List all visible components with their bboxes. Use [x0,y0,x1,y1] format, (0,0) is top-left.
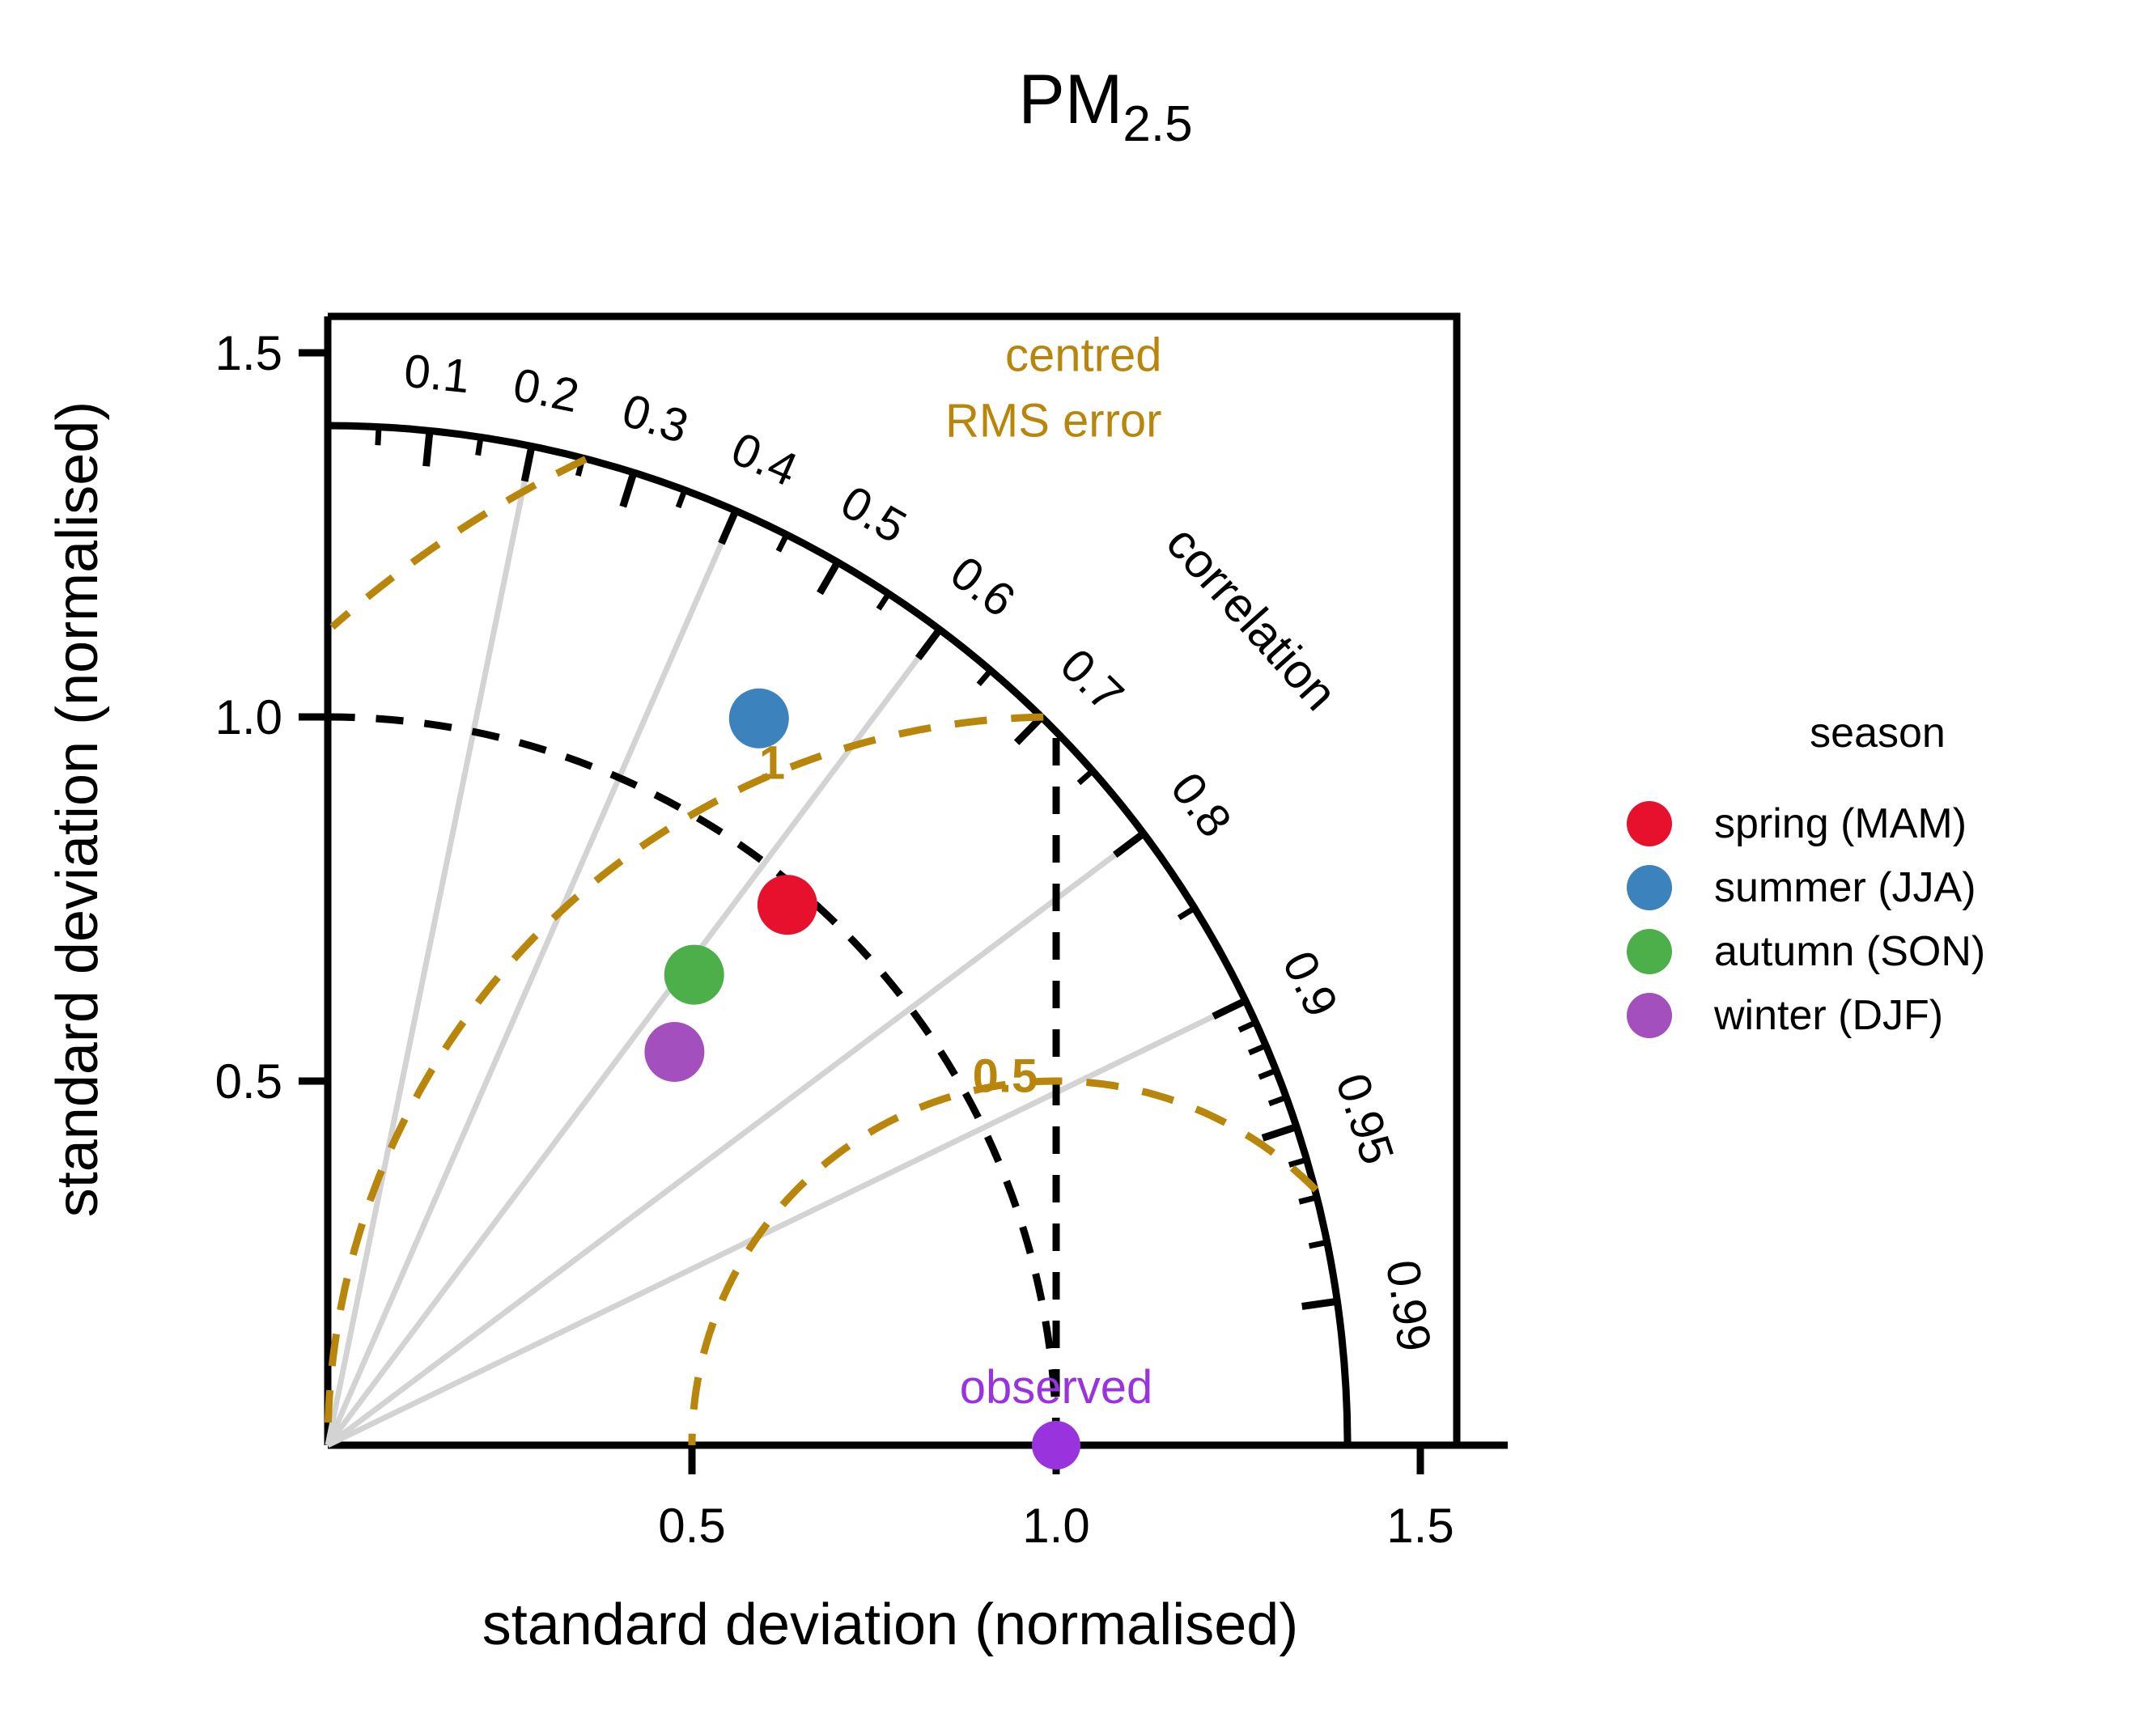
legend-item-spring[interactable]: spring (MAM) [1627,791,2128,855]
correlation-minor-tick-8 [1179,908,1195,918]
correlation-tick-label-6: 0.7 [1050,638,1134,722]
rms-contour-1 [328,717,1043,1445]
data-point-1[interactable] [729,689,789,748]
correlation-tick-label-10: 0.99 [1376,1257,1441,1355]
correlation-tick-label-4: 0.5 [832,476,915,554]
rms-contour-1.5 [333,460,586,627]
legend-item-winter[interactable]: winter (DJF) [1627,983,2128,1047]
legend-label-autumn: autumn (SON) [1714,931,1985,973]
correlation-tick-label-3: 0.4 [724,422,805,497]
correlation-tick-3 [721,511,736,543]
correlation-minor-tick-1 [478,437,481,455]
correlation-minor-tick-11 [1259,1071,1276,1077]
legend-swatch-summer [1627,865,1672,910]
y-tick-label-2: 1.5 [215,326,282,380]
legend-item-summer[interactable]: summer (JJA) [1627,855,2128,919]
x-tick-label-2: 1.5 [1386,1499,1454,1553]
x-axis-title: standard deviation (normalised) [482,1592,1299,1657]
chart-title: PM2.5 [1018,61,1192,152]
legend-title: season [1627,712,2128,754]
correlation-minor-tick-13 [1289,1160,1307,1164]
correlation-tick-2 [623,473,634,507]
correlation-gridline-0 [328,446,532,1445]
correlation-tick-7 [1115,833,1144,854]
correlation-tick-label-2: 0.3 [616,384,694,453]
rms-error-label-line1: centred [1005,329,1161,382]
data-point-0[interactable] [758,875,817,935]
correlation-minor-tick-4 [779,535,787,551]
correlation-minor-tick-3 [678,490,685,507]
data-point-3[interactable] [644,1022,704,1082]
correlation-gridline-2 [328,630,940,1445]
plot-box-frame [328,316,1457,1445]
x-tick-label-1: 1.0 [1022,1499,1089,1553]
legend-swatch-spring [1627,801,1672,846]
correlation-tick-0 [427,430,430,466]
correlation-tick-10 [1302,1301,1338,1306]
correlation-minor-tick-7 [1079,771,1093,783]
correlation-minor-tick-12 [1269,1097,1286,1104]
legend: season spring (MAM) summer (JJA) autumn … [1627,712,2128,1047]
correlation-tick-label-5: 0.6 [941,546,1025,627]
taylor-diagram-page: 0.50.51.01.01.51.50.10.20.30.40.50.60.70… [0,0,2156,1709]
correlation-tick-label-9: 0.95 [1326,1067,1404,1171]
rms-error-label-line2: RMS error [945,395,1161,447]
legend-swatch-autumn [1627,929,1672,974]
correlation-tick-4 [820,562,838,593]
correlation-minor-tick-15 [1309,1242,1327,1246]
correlation-tick-label-8: 0.9 [1272,944,1348,1025]
correlation-gridline-3 [328,833,1144,1445]
reference-sd-arc [328,717,1056,1445]
correlation-tick-1 [524,446,532,481]
correlation-minor-tick-5 [879,594,889,609]
correlation-tick-5 [919,630,940,658]
correlation-minor-tick-6 [978,670,991,684]
correlation-tick-label-1: 0.2 [509,358,584,423]
legend-item-autumn[interactable]: autumn (SON) [1627,919,2128,983]
correlation-minor-tick-9 [1239,1023,1256,1030]
correlation-minor-tick-10 [1249,1045,1266,1053]
rms-contour-label-0.5: 0.5 [973,1050,1038,1103]
correlation-tick-label-0: 0.1 [402,345,473,404]
y-axis-title: standard deviation (normalised) [45,401,110,1218]
data-point-2[interactable] [664,945,724,1005]
correlation-tick-label-7: 0.8 [1161,763,1241,847]
observed-label: observed [960,1361,1153,1414]
correlation-tick-8 [1213,1001,1246,1016]
correlation-minor-tick-0 [378,427,379,446]
correlation-minor-tick-14 [1299,1198,1317,1202]
correlation-tick-9 [1263,1127,1297,1139]
legend-label-winter: winter (DJF) [1714,994,1943,1037]
legend-swatch-winter [1627,993,1672,1038]
y-tick-label-1: 1.0 [215,690,282,744]
y-tick-label-0: 0.5 [215,1054,282,1109]
x-tick-label-0: 0.5 [658,1499,725,1553]
observed-point [1032,1421,1080,1469]
correlation-axis-label: correlation [1156,515,1347,720]
legend-label-spring: spring (MAM) [1714,803,1967,845]
legend-label-summer: summer (JJA) [1714,867,1976,909]
